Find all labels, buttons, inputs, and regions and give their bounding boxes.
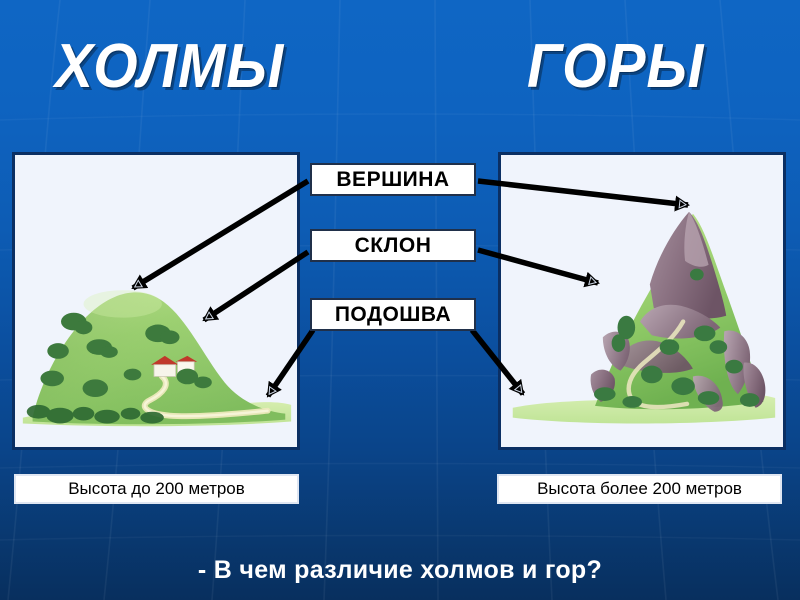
label-sklon[interactable]: СКЛОН	[310, 229, 476, 262]
label-vershina[interactable]: ВЕРШИНА	[310, 163, 476, 196]
slide-canvas: ХОЛМЫ ГОРЫ	[0, 0, 800, 600]
label-podoshva[interactable]: ПОДОШВА	[310, 298, 476, 331]
discussion-question: - В чем различие холмов и гор?	[0, 556, 800, 585]
hill-drawing	[15, 155, 297, 447]
page-title-mountains: ГОРЫ	[527, 36, 704, 98]
illustration-panel-hill	[12, 152, 300, 450]
page-title-hills: ХОЛМЫ	[55, 36, 284, 98]
caption-hill-height: Высота до 200 метров	[14, 474, 299, 504]
illustration-panel-mountain	[498, 152, 786, 450]
mountain-drawing	[501, 155, 783, 447]
caption-mountain-height: Высота более 200 метров	[497, 474, 782, 504]
